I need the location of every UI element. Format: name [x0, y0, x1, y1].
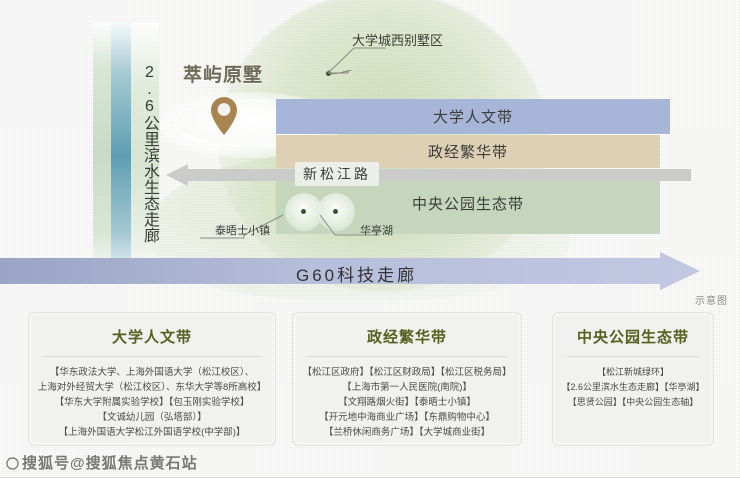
card-line: 【上海市第一人民医院(南院)】 — [301, 380, 513, 395]
card-line: 【兰桥休闲商务广场】【大学城商业街】 — [301, 425, 513, 440]
card-politics-economy: 政经繁华带 【松江区政府】【松江区财政局】【松江区税务局】 【上海市第一人民医院… — [292, 312, 522, 446]
card-line: 【华东政法大学、上海外国语大学（松江校区）、 — [37, 365, 267, 380]
card-title: 政经繁华带 — [293, 326, 521, 347]
gradient-stripe-1 — [93, 22, 111, 280]
watermark: 搜狐号@搜狐焦点黄石站 — [6, 452, 198, 473]
watermark-text: 搜狐号@搜狐焦点黄石站 — [22, 455, 198, 472]
page-root: 2.6公里滨水生态走廊 萃屿原墅 大学人文带 政经繁华带 中央公园生态带 新松江… — [0, 0, 740, 477]
card-line: 【上海外国语大学松江外国语学校(中学部)】 — [37, 425, 267, 440]
card-divider — [307, 356, 507, 357]
schematic-note: 示意图 — [695, 292, 728, 305]
card-central-park-ecology: 中央公园生态带 【松江新城绿环】 【2.6公里滨水生态走廊】【华亭湖】 【思贤公… — [552, 312, 714, 446]
legend-cards: 大学人文带 【华东政法大学、上海外国语大学（松江校区）、 上海对外经贸大学（松江… — [0, 312, 740, 452]
waterfront-corridor-vertical-label: 2.6公里滨水生态走廊 — [133, 28, 159, 278]
annotation-huating-lake: 华亭湖 — [360, 222, 393, 238]
card-line: 【松江区政府】【松江区财政局】【松江区税务局】 — [301, 365, 513, 380]
gradient-stripe-2 — [111, 22, 131, 280]
sohu-logo-icon — [6, 457, 19, 470]
card-line: 【2.6公里滨水生态走廊】【华亭湖】 — [561, 380, 705, 395]
g60-corridor-label: G60科技走廊 — [296, 261, 417, 286]
card-line: 上海对外经贸大学（松江校区）、东华大学等8所高校】 — [37, 380, 267, 395]
annotation-thames-town: 泰晤士小镇 — [215, 222, 270, 238]
card-divider — [43, 356, 261, 357]
card-line: 【文翔路烟火街】【泰晤士小镇】 — [301, 395, 513, 410]
annotation-leader-lines — [180, 70, 540, 245]
card-title: 大学人文带 — [29, 326, 275, 347]
card-line: 【文诚幼儿园（弘塔部）】 — [37, 410, 267, 425]
schematic-map: 2.6公里滨水生态走廊 萃屿原墅 大学人文带 政经繁华带 中央公园生态带 新松江… — [0, 0, 740, 305]
card-line: 【思贤公园】【中央公园生态轴】 — [561, 395, 705, 410]
card-line: 【松江新城绿环】 — [561, 365, 705, 380]
card-title: 中央公园生态带 — [553, 326, 713, 347]
card-divider — [567, 356, 699, 357]
card-line: 【开元地中海商业广场】【东鼎购物中心】 — [301, 410, 513, 425]
card-line: 【华东大学附属实验学校】【包玉刚实验学校】 — [37, 395, 267, 410]
card-body: 【松江新城绿环】 【2.6公里滨水生态走廊】【华亭湖】 【思贤公园】【中央公园生… — [553, 365, 713, 410]
card-body: 【松江区政府】【松江区财政局】【松江区税务局】 【上海市第一人民医院(南院)】 … — [293, 365, 521, 440]
card-university-humanities: 大学人文带 【华东政法大学、上海外国语大学（松江校区）、 上海对外经贸大学（松江… — [28, 312, 276, 446]
card-body: 【华东政法大学、上海外国语大学（松江校区）、 上海对外经贸大学（松江校区）、东华… — [29, 365, 275, 440]
annotation-villa-district: 大学城西别墅区 — [352, 30, 443, 49]
